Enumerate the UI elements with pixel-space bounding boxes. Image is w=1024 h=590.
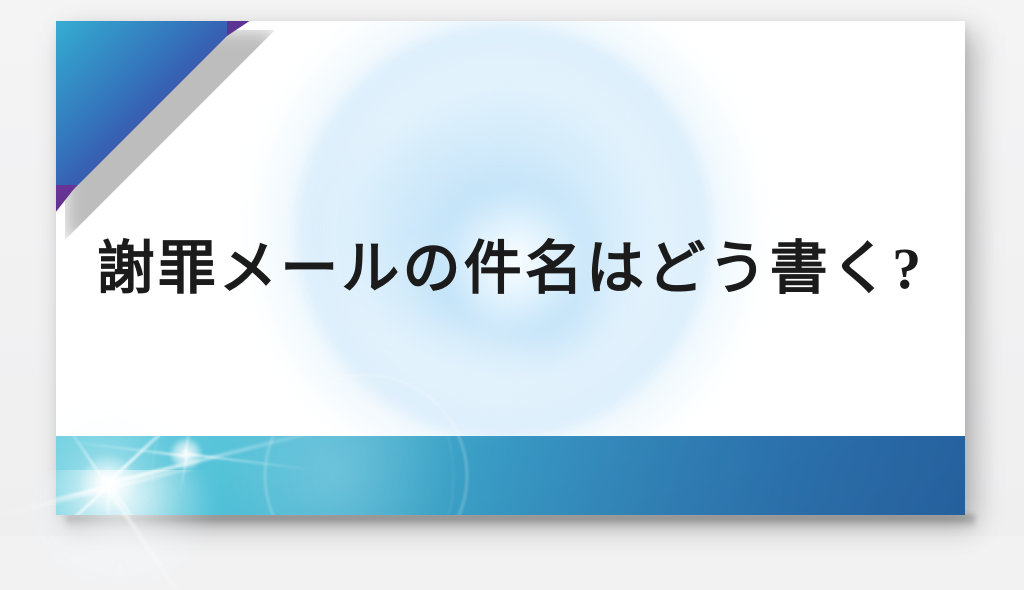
card-bottom-shadow [66, 515, 975, 529]
slide-canvas: 謝罪メールの件名はどう書く? [0, 0, 1024, 536]
bottom-band [56, 436, 965, 515]
page-title: 謝罪メールの件名はどう書く? [56, 236, 965, 303]
slide-card: 謝罪メールの件名はどう書く? [56, 21, 965, 515]
